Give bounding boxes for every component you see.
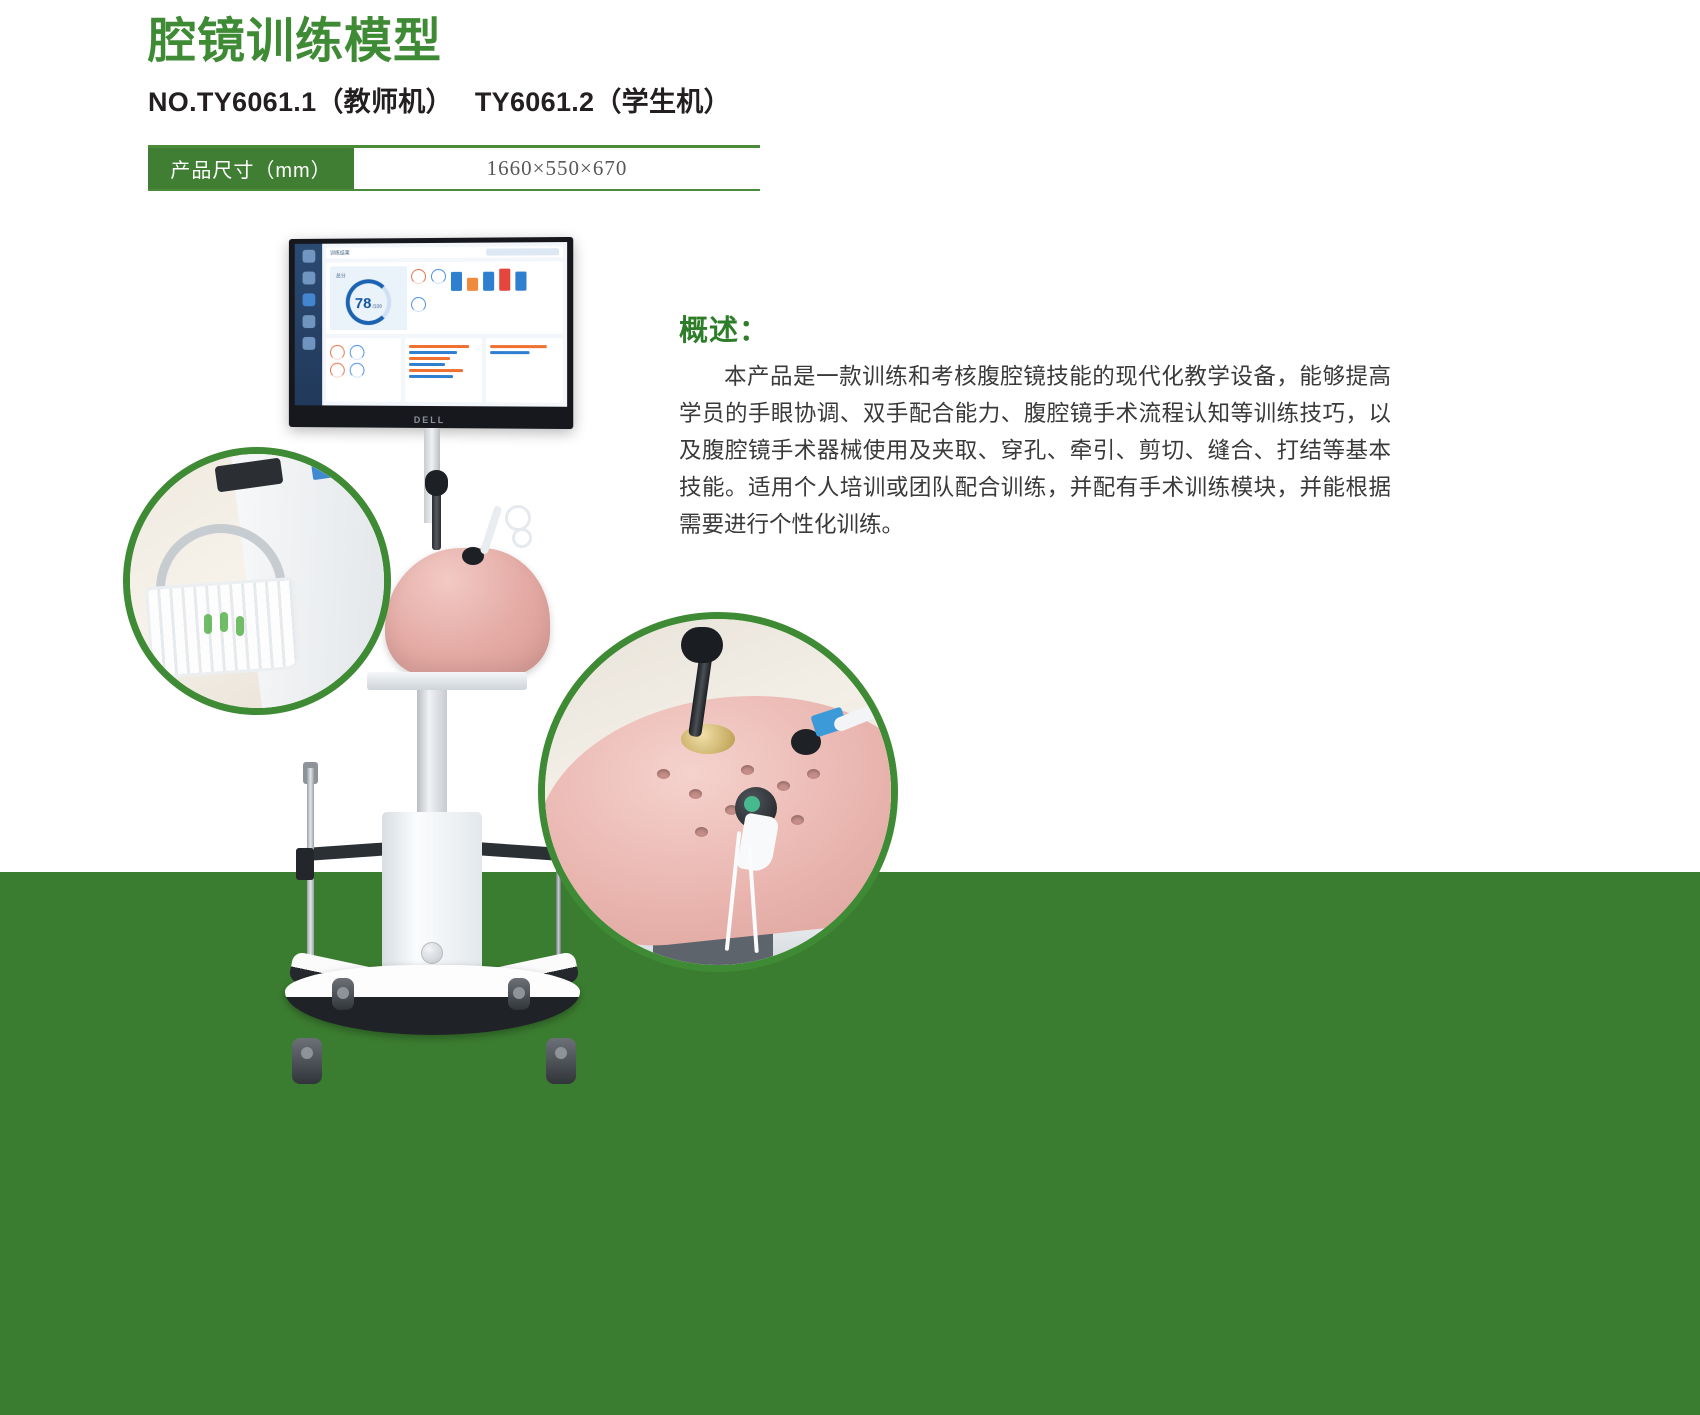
score-ring: 78/100: [346, 279, 391, 325]
bar-card: [467, 278, 478, 291]
monitor: 训练结果 总分 78/100: [289, 237, 573, 429]
card-ring-row: [330, 345, 397, 360]
bar: [490, 351, 530, 354]
bar-card: [483, 272, 494, 291]
bar-card: [499, 269, 510, 291]
dashboard-cards: [326, 338, 563, 403]
bar: [409, 351, 457, 354]
product-photo: 训练结果 总分 78/100: [0, 0, 1700, 1415]
score-value: 78: [355, 295, 371, 312]
monitor-brand-logo: DELL: [289, 414, 573, 426]
dashboard-hero: 总分 78/100: [326, 261, 563, 334]
score-panel: 总分 78/100: [330, 266, 407, 330]
metric-ring: [350, 345, 365, 360]
detail-callout-basket: [123, 447, 391, 715]
caster-wheel: [546, 1038, 576, 1084]
score-label: 总分: [336, 272, 346, 279]
cart-base-plate: [285, 965, 580, 1035]
manikin-torso: [385, 548, 550, 676]
detail-callout-abdomen: [538, 612, 898, 972]
home-icon: [302, 250, 315, 263]
gear-icon: [302, 337, 315, 350]
basket-content-item: [236, 616, 244, 636]
card-bars-2: [486, 338, 563, 403]
caster-wheel: [508, 978, 530, 1010]
bar: [409, 375, 453, 378]
port-hole: [695, 827, 708, 837]
caster-hub: [513, 987, 525, 999]
breadcrumb: 训练结果: [330, 250, 350, 257]
metric-bars: [451, 269, 527, 291]
dashboard-header: 训练结果: [326, 246, 563, 258]
port-hole: [741, 765, 754, 775]
card-rings: [326, 338, 401, 402]
monitor-screen: 训练结果 总分 78/100: [295, 242, 567, 407]
bar-card: [451, 272, 462, 291]
port-hole: [777, 781, 790, 791]
bar: [490, 345, 547, 348]
basket-content-item: [220, 612, 228, 632]
instrument-ring: [512, 528, 532, 548]
metric-ring: [431, 269, 446, 284]
caster-hub: [555, 1047, 567, 1059]
pole-clamp: [296, 848, 314, 880]
metric-ring: [411, 269, 426, 284]
lift-column: [417, 690, 447, 820]
instrument-tube: [479, 505, 502, 555]
training-dashboard: 训练结果 总分 78/100: [295, 242, 567, 407]
card-bars: [405, 338, 481, 402]
chart-icon: [302, 272, 315, 285]
metric-label: [411, 265, 559, 266]
list-icon: [302, 315, 315, 328]
port-hole: [791, 815, 804, 825]
instrument-grip: [681, 627, 723, 663]
bar: [409, 345, 469, 348]
trocar-handle: [425, 470, 448, 496]
hero-metrics: [411, 265, 559, 330]
metric-rings: [411, 268, 559, 291]
dashboard-sidebar: [295, 244, 322, 406]
metric-ring: [330, 363, 345, 378]
cart-base-column: TELLYES: [382, 812, 482, 987]
caster-hub: [337, 987, 349, 999]
port-hole: [807, 769, 820, 779]
dashboard-main: 训练结果 总分 78/100: [322, 242, 567, 407]
bar-card: [515, 272, 526, 291]
bar: [409, 363, 444, 366]
basket-content-item: [204, 614, 212, 634]
metric-ring: [330, 345, 345, 360]
caster-wheel: [292, 1038, 322, 1084]
caster-wheel: [332, 978, 354, 1010]
instrument-ring: [505, 505, 531, 531]
results-icon: [302, 293, 315, 306]
user-chip: [486, 248, 559, 256]
bar: [409, 369, 462, 372]
score-suffix: /100: [372, 304, 382, 310]
bar: [409, 357, 450, 360]
height-adjust-knob: [421, 942, 443, 964]
clip-badge: [311, 462, 333, 480]
metric-ring: [350, 363, 365, 378]
equipment-tray: [367, 672, 527, 690]
metric-ring: [411, 297, 426, 312]
caster-hub: [301, 1047, 313, 1059]
card-ring-row: [330, 363, 397, 378]
port-hole: [689, 789, 702, 799]
product-catalog-page: 腔镜训练模型 NO.TY6061.1（教师机）TY6061.2（学生机） 产品尺…: [0, 0, 1700, 1415]
port-hole: [657, 769, 670, 779]
